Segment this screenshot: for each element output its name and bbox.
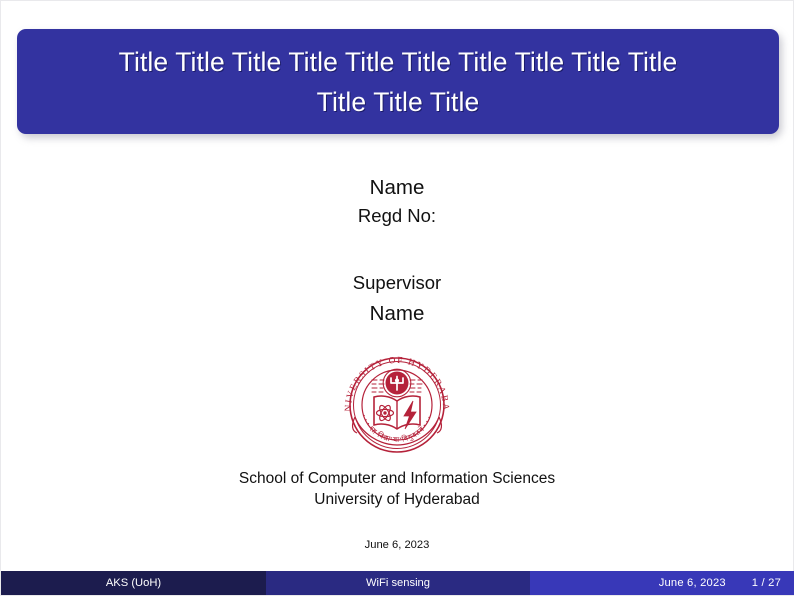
title-bar: Title Title Title Title Title Title Titl… — [17, 29, 779, 134]
author-name: Name — [1, 173, 793, 202]
author-regd-no: Regd No: — [1, 202, 793, 229]
footer-meta-segment: June 6, 2023 1 / 27 — [530, 571, 794, 595]
footer-author-label: AKS (UoH) — [106, 577, 161, 589]
footer-page-indicator: 1 / 27 — [752, 577, 781, 589]
footer-topic-segment: WiFi sensing — [266, 571, 530, 595]
institute-block: School of Computer and Information Scien… — [1, 468, 793, 510]
author-block: Name Regd No: — [1, 173, 793, 229]
footer-date-label: June 6, 2023 — [659, 577, 726, 589]
supervisor-name: Name — [1, 297, 793, 330]
slide-date: June 6, 2023 — [1, 539, 793, 551]
supervisor-label: Supervisor — [1, 269, 793, 297]
institute-school: School of Computer and Information Scien… — [1, 468, 793, 489]
footer-author-segment: AKS (UoH) — [1, 571, 266, 595]
presentation-title-slide: Title Title Title Title Title Title Titl… — [0, 0, 794, 596]
supervisor-block: Supervisor Name — [1, 269, 793, 330]
title-bar-container: Title Title Title Title Title Title Titl… — [17, 29, 779, 134]
university-seal-icon: UNIVERSITY OF HYDERABAD सा विद्या या विम… — [335, 347, 459, 459]
slide-footer: AKS (UoH) WiFi sensing June 6, 2023 1 / … — [1, 571, 794, 595]
institute-university: University of Hyderabad — [1, 489, 793, 510]
footer-topic-label: WiFi sensing — [366, 577, 430, 589]
slide-title: Title Title Title Title Title Title Titl… — [119, 42, 678, 122]
